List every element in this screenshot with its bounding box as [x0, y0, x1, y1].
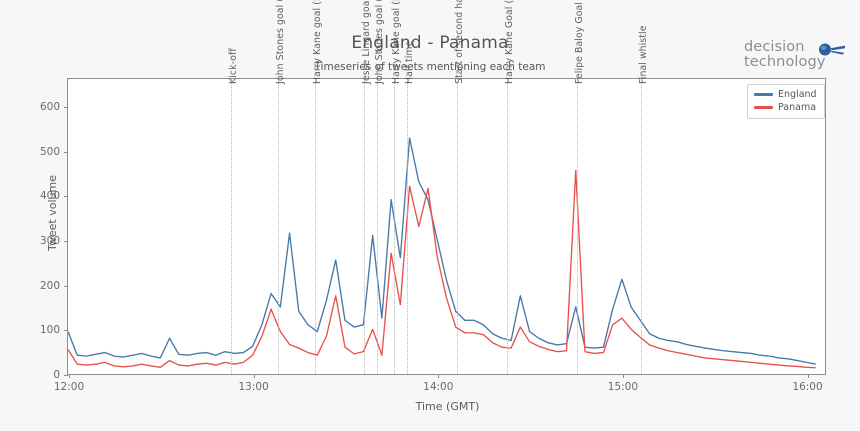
event-line	[507, 79, 508, 374]
event-label: John Stones goal (1-0)	[275, 0, 286, 84]
y-tick-mark	[64, 375, 68, 376]
y-tick-label: 300	[40, 235, 60, 247]
event-label: Harry Kane goal (P) (2-0)	[312, 0, 323, 84]
y-tick-label: 600	[40, 101, 60, 113]
plot-area: Tweet volume Time (GMT) 0100200300400500…	[67, 78, 826, 375]
event-line	[457, 79, 458, 374]
x-tick-mark	[254, 374, 255, 378]
event-line	[377, 79, 378, 374]
event-label: Start of second half	[454, 0, 465, 84]
event-label: John Stones goal (4-0)	[374, 0, 385, 84]
event-line	[577, 79, 578, 374]
event-label: Harry Kane goal (P) (5-0)	[391, 0, 402, 84]
chart-legend[interactable]: England Panama	[747, 84, 825, 119]
event-line	[231, 79, 232, 374]
series-line-england	[68, 138, 816, 364]
event-line	[364, 79, 365, 374]
legend-item-panama[interactable]: Panama	[754, 102, 817, 113]
x-axis-label: Time (GMT)	[68, 400, 827, 413]
event-line	[315, 79, 316, 374]
y-tick-label: 0	[53, 369, 60, 381]
line-chart-svg	[68, 79, 825, 374]
event-label: Half time	[404, 41, 415, 84]
event-label: Final whistle	[638, 25, 649, 84]
event-line	[394, 79, 395, 374]
series-line-panama	[68, 171, 816, 368]
x-tick-label: 14:00	[423, 381, 453, 393]
legend-item-england[interactable]: England	[754, 89, 817, 100]
event-line	[278, 79, 279, 374]
x-tick-label: 12:00	[54, 381, 84, 393]
x-tick-label: 13:00	[238, 381, 268, 393]
y-tick-label: 500	[40, 146, 60, 158]
page-subtitle: Timeseries of tweets mentioning each tea…	[0, 61, 860, 73]
event-label: Harry Kane Goal (6-0)	[504, 0, 515, 84]
legend-label-panama: Panama	[778, 102, 816, 113]
event-line	[407, 79, 408, 374]
comet-icon	[816, 43, 846, 57]
event-label: Kick-off	[228, 48, 239, 84]
event-line	[641, 79, 642, 374]
event-label: Felipe Baloy Goal (6-1)	[574, 0, 585, 84]
x-tick-mark	[69, 374, 70, 378]
brand-logo: decision technology	[744, 40, 844, 74]
x-tick-mark	[438, 374, 439, 378]
chart-page: England - Panama Timeseries of tweets me…	[0, 0, 860, 431]
y-tick-label: 200	[40, 280, 60, 292]
event-label: Jesse Lingard goal (3-0)	[361, 0, 372, 84]
legend-label-england: England	[778, 89, 817, 100]
x-tick-mark	[623, 374, 624, 378]
x-tick-label: 16:00	[792, 381, 822, 393]
x-tick-mark	[808, 374, 809, 378]
legend-swatch-england	[754, 93, 773, 96]
y-tick-label: 400	[40, 190, 60, 202]
legend-swatch-panama	[754, 106, 773, 109]
series-canvas	[68, 79, 825, 374]
x-tick-label: 15:00	[608, 381, 638, 393]
y-tick-label: 100	[40, 324, 60, 336]
page-title: England - Panama	[0, 33, 860, 53]
